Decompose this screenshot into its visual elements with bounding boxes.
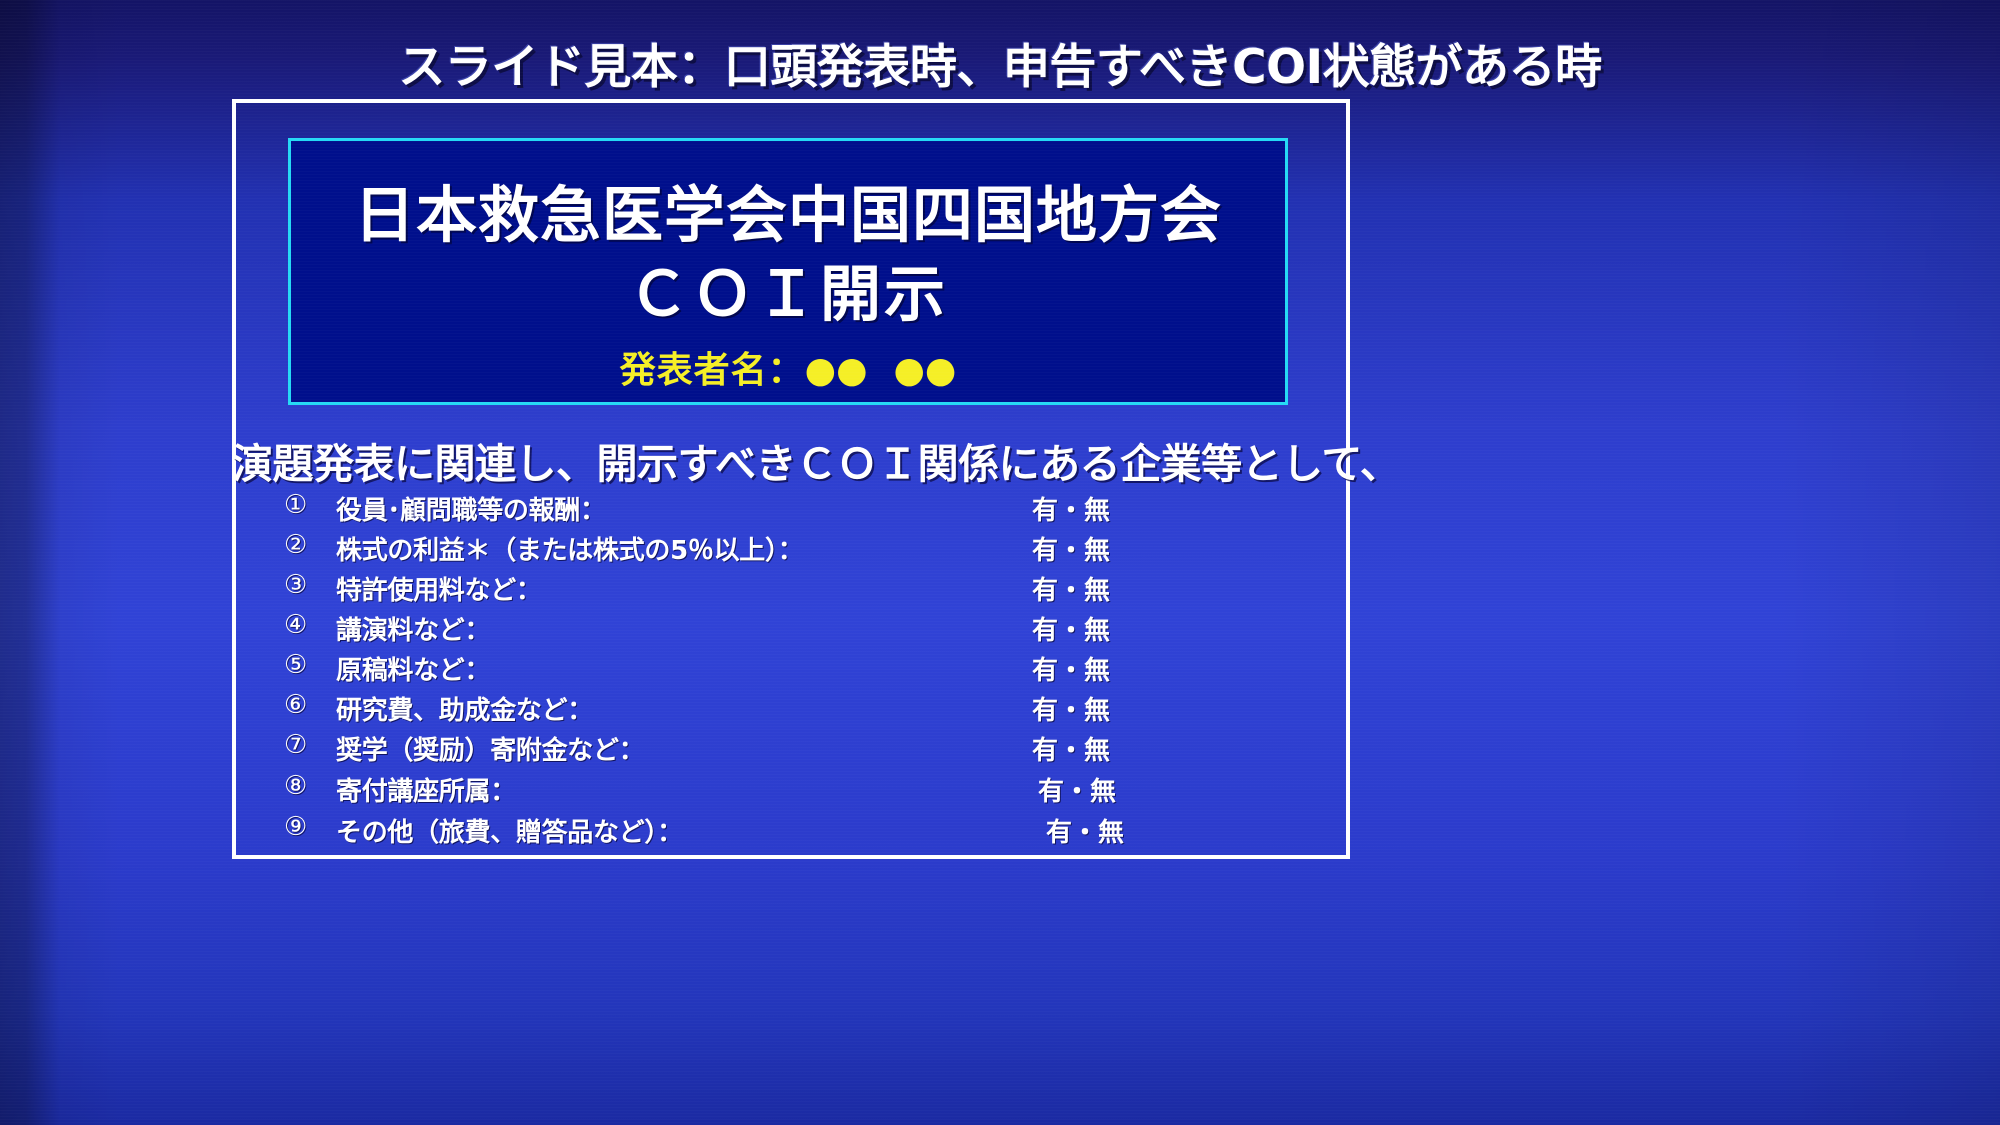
coi-list-item: ⑥研究費、助成金など：有・無: [232, 690, 1350, 722]
coi-list-item: ⑤原稿料など：有・無: [232, 650, 1350, 682]
coi-item-number: ⑥: [284, 690, 307, 720]
coi-item-answer[interactable]: 有・無: [1032, 730, 1110, 767]
slide-canvas: スライド見本：口頭発表時、申告すべきCOI状態がある時 日本救急医学会中国四国地…: [0, 0, 2000, 1125]
coi-item-label: 講演料など：: [336, 610, 490, 647]
coi-disclosure-title: ＣＯＩ開示: [291, 244, 1285, 333]
coi-list-item: ②株式の利益＊（または株式の5％以上）：有・無: [232, 530, 1350, 562]
coi-item-number: ①: [284, 490, 307, 520]
coi-item-label: 原稿料など：: [336, 650, 490, 687]
coi-item-number: ⑧: [284, 771, 307, 801]
heading-panel: 日本救急医学会中国四国地方会 ＣＯＩ開示 発表者名：●●●●: [288, 138, 1288, 405]
organization-name: 日本救急医学会中国四国地方会: [291, 165, 1285, 254]
coi-item-number: ⑤: [284, 650, 307, 680]
coi-item-label: 寄付講座所属：: [336, 771, 516, 808]
coi-item-answer[interactable]: 有・無: [1038, 771, 1116, 808]
coi-item-label: 役員･顧問職等の報酬：: [336, 490, 606, 527]
presenter-label: 発表者名：: [620, 350, 805, 391]
coi-list-item: ⑦奨学（奨励）寄附金など：有・無: [232, 730, 1350, 762]
coi-item-label: 奨学（奨励）寄附金など：: [336, 730, 644, 767]
coi-item-answer[interactable]: 有・無: [1032, 530, 1110, 567]
coi-item-answer[interactable]: 有・無: [1032, 650, 1110, 687]
coi-list-item: ⑨その他（旅費、贈答品など）：有・無: [232, 812, 1350, 844]
coi-item-label: 研究費、助成金など：: [336, 690, 593, 727]
presenter-dots-second: ●●: [894, 350, 957, 391]
coi-item-number: ②: [284, 530, 307, 560]
coi-item-label: その他（旅費、贈答品など）：: [336, 812, 683, 849]
coi-item-label: 株式の利益＊（または株式の5％以上）：: [336, 530, 803, 567]
coi-item-answer[interactable]: 有・無: [1032, 690, 1110, 727]
disclosure-statement: 演題発表に関連し、開示すべきＣＯＩ関係にある企業等として、: [232, 430, 1350, 490]
coi-list-item: ③特許使用料など：有・無: [232, 570, 1350, 602]
coi-item-number: ③: [284, 570, 307, 600]
coi-item-answer[interactable]: 有・無: [1032, 610, 1110, 647]
presenter-dots-first: ●●: [805, 350, 868, 391]
coi-item-number: ④: [284, 610, 307, 640]
coi-item-label: 特許使用料など：: [336, 570, 542, 607]
coi-item-number: ⑦: [284, 730, 307, 760]
coi-list-item: ④講演料など：有・無: [232, 610, 1350, 642]
coi-item-number: ⑨: [284, 812, 307, 842]
coi-item-answer[interactable]: 有・無: [1032, 570, 1110, 607]
coi-item-answer[interactable]: 有・無: [1046, 812, 1124, 849]
coi-list-item: ①役員･顧問職等の報酬：有・無: [232, 490, 1350, 522]
coi-list-item: ⑧寄付講座所属：有・無: [232, 771, 1350, 803]
presenter-name-row: 発表者名：●●●●: [291, 341, 1285, 393]
coi-item-answer[interactable]: 有・無: [1032, 490, 1110, 527]
page-title: スライド見本：口頭発表時、申告すべきCOI状態がある時: [0, 28, 2000, 97]
